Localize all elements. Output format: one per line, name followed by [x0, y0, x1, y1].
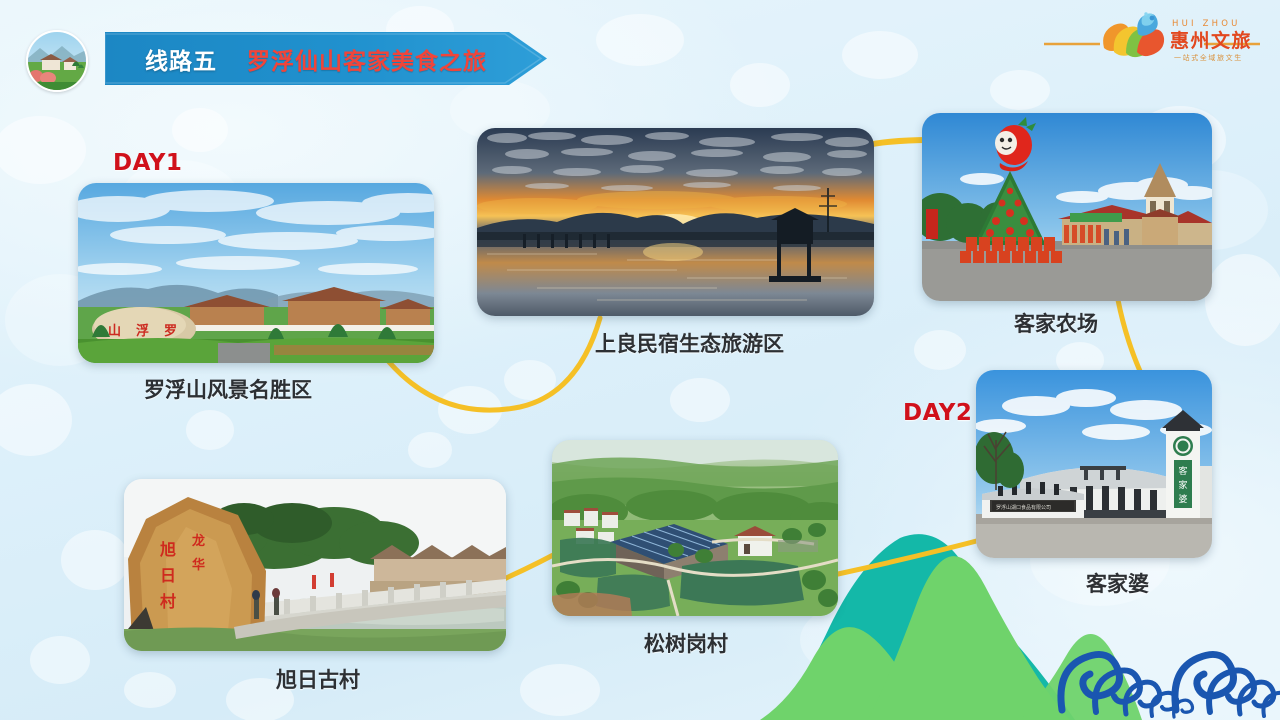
stop-caption-luofushan: 罗浮山风景名胜区	[144, 374, 312, 404]
svg-text:婆: 婆	[1178, 493, 1187, 505]
svg-text:华: 华	[192, 557, 205, 573]
stop-photo-hakka-farm	[922, 113, 1212, 301]
route-banner-text: 线路五 罗浮仙山客家美食之旅	[105, 32, 547, 85]
svg-text:旭: 旭	[159, 540, 176, 559]
slide-header: 线路五 罗浮仙山客家美食之旅 HUI ZHOU 惠州文旅 一站式全域旅文生	[0, 0, 1280, 96]
slide-canvas: 线路五 罗浮仙山客家美食之旅 HUI ZHOU 惠州文旅 一站式全域旅文生	[0, 0, 1280, 720]
stop-card-shangliang[interactable]	[477, 128, 874, 316]
svg-text:龙: 龙	[192, 533, 205, 549]
stop-photo-shangliang	[477, 128, 874, 316]
stop-caption-xuri: 旭日古村	[276, 664, 360, 694]
day-badge-2: DAY2	[903, 400, 972, 426]
stop-caption-songshugang: 松树岗村	[644, 628, 728, 658]
stop-photo-hakka-po: 罗浮山湖口食品有限公司 客家婆	[976, 370, 1212, 558]
svg-text:家: 家	[1178, 479, 1187, 491]
svg-text:罗浮山湖口食品有限公司: 罗浮山湖口食品有限公司	[996, 504, 1051, 511]
stop-card-luofushan[interactable]: 山浮罗	[78, 183, 434, 363]
stop-card-hakka-farm[interactable]	[922, 113, 1212, 301]
brand-name: 惠州文旅	[1170, 29, 1252, 52]
stop-photo-luofushan: 山浮罗	[78, 183, 434, 363]
svg-text:山: 山	[108, 323, 121, 339]
stop-card-xuri[interactable]: 旭日村 龙华	[124, 479, 506, 651]
brand-pinyin: HUI ZHOU	[1172, 19, 1241, 29]
stop-card-songshugang[interactable]	[552, 440, 838, 616]
stop-photo-songshugang	[552, 440, 838, 616]
stop-caption-hakka-po: 客家婆	[1086, 568, 1149, 598]
stop-card-hakka-po[interactable]: 罗浮山湖口食品有限公司 客家婆	[976, 370, 1212, 558]
route-title: 罗浮仙山客家美食之旅	[247, 42, 487, 76]
stop-photo-xuri: 旭日村 龙华	[124, 479, 506, 651]
old-village-row	[374, 557, 506, 583]
brand-tagline: 一站式全域旅文生	[1174, 53, 1243, 62]
svg-text:村: 村	[160, 592, 176, 611]
svg-text:客: 客	[1178, 465, 1187, 477]
svg-text:罗: 罗	[164, 324, 177, 339]
brand-logo[interactable]: HUI ZHOU 惠州文旅 一站式全域旅文生	[1042, 10, 1262, 68]
day-badge-1: DAY1	[113, 150, 182, 176]
svg-text:浮: 浮	[136, 323, 149, 339]
stop-caption-hakka-farm: 客家农场	[1014, 308, 1098, 338]
route-label: 线路五	[145, 42, 217, 76]
stop-caption-shangliang: 上良民宿生态旅游区	[595, 328, 784, 358]
brand-emblem-icon	[1103, 12, 1164, 57]
route-thumbnail	[26, 30, 88, 92]
svg-text:日: 日	[160, 566, 176, 585]
